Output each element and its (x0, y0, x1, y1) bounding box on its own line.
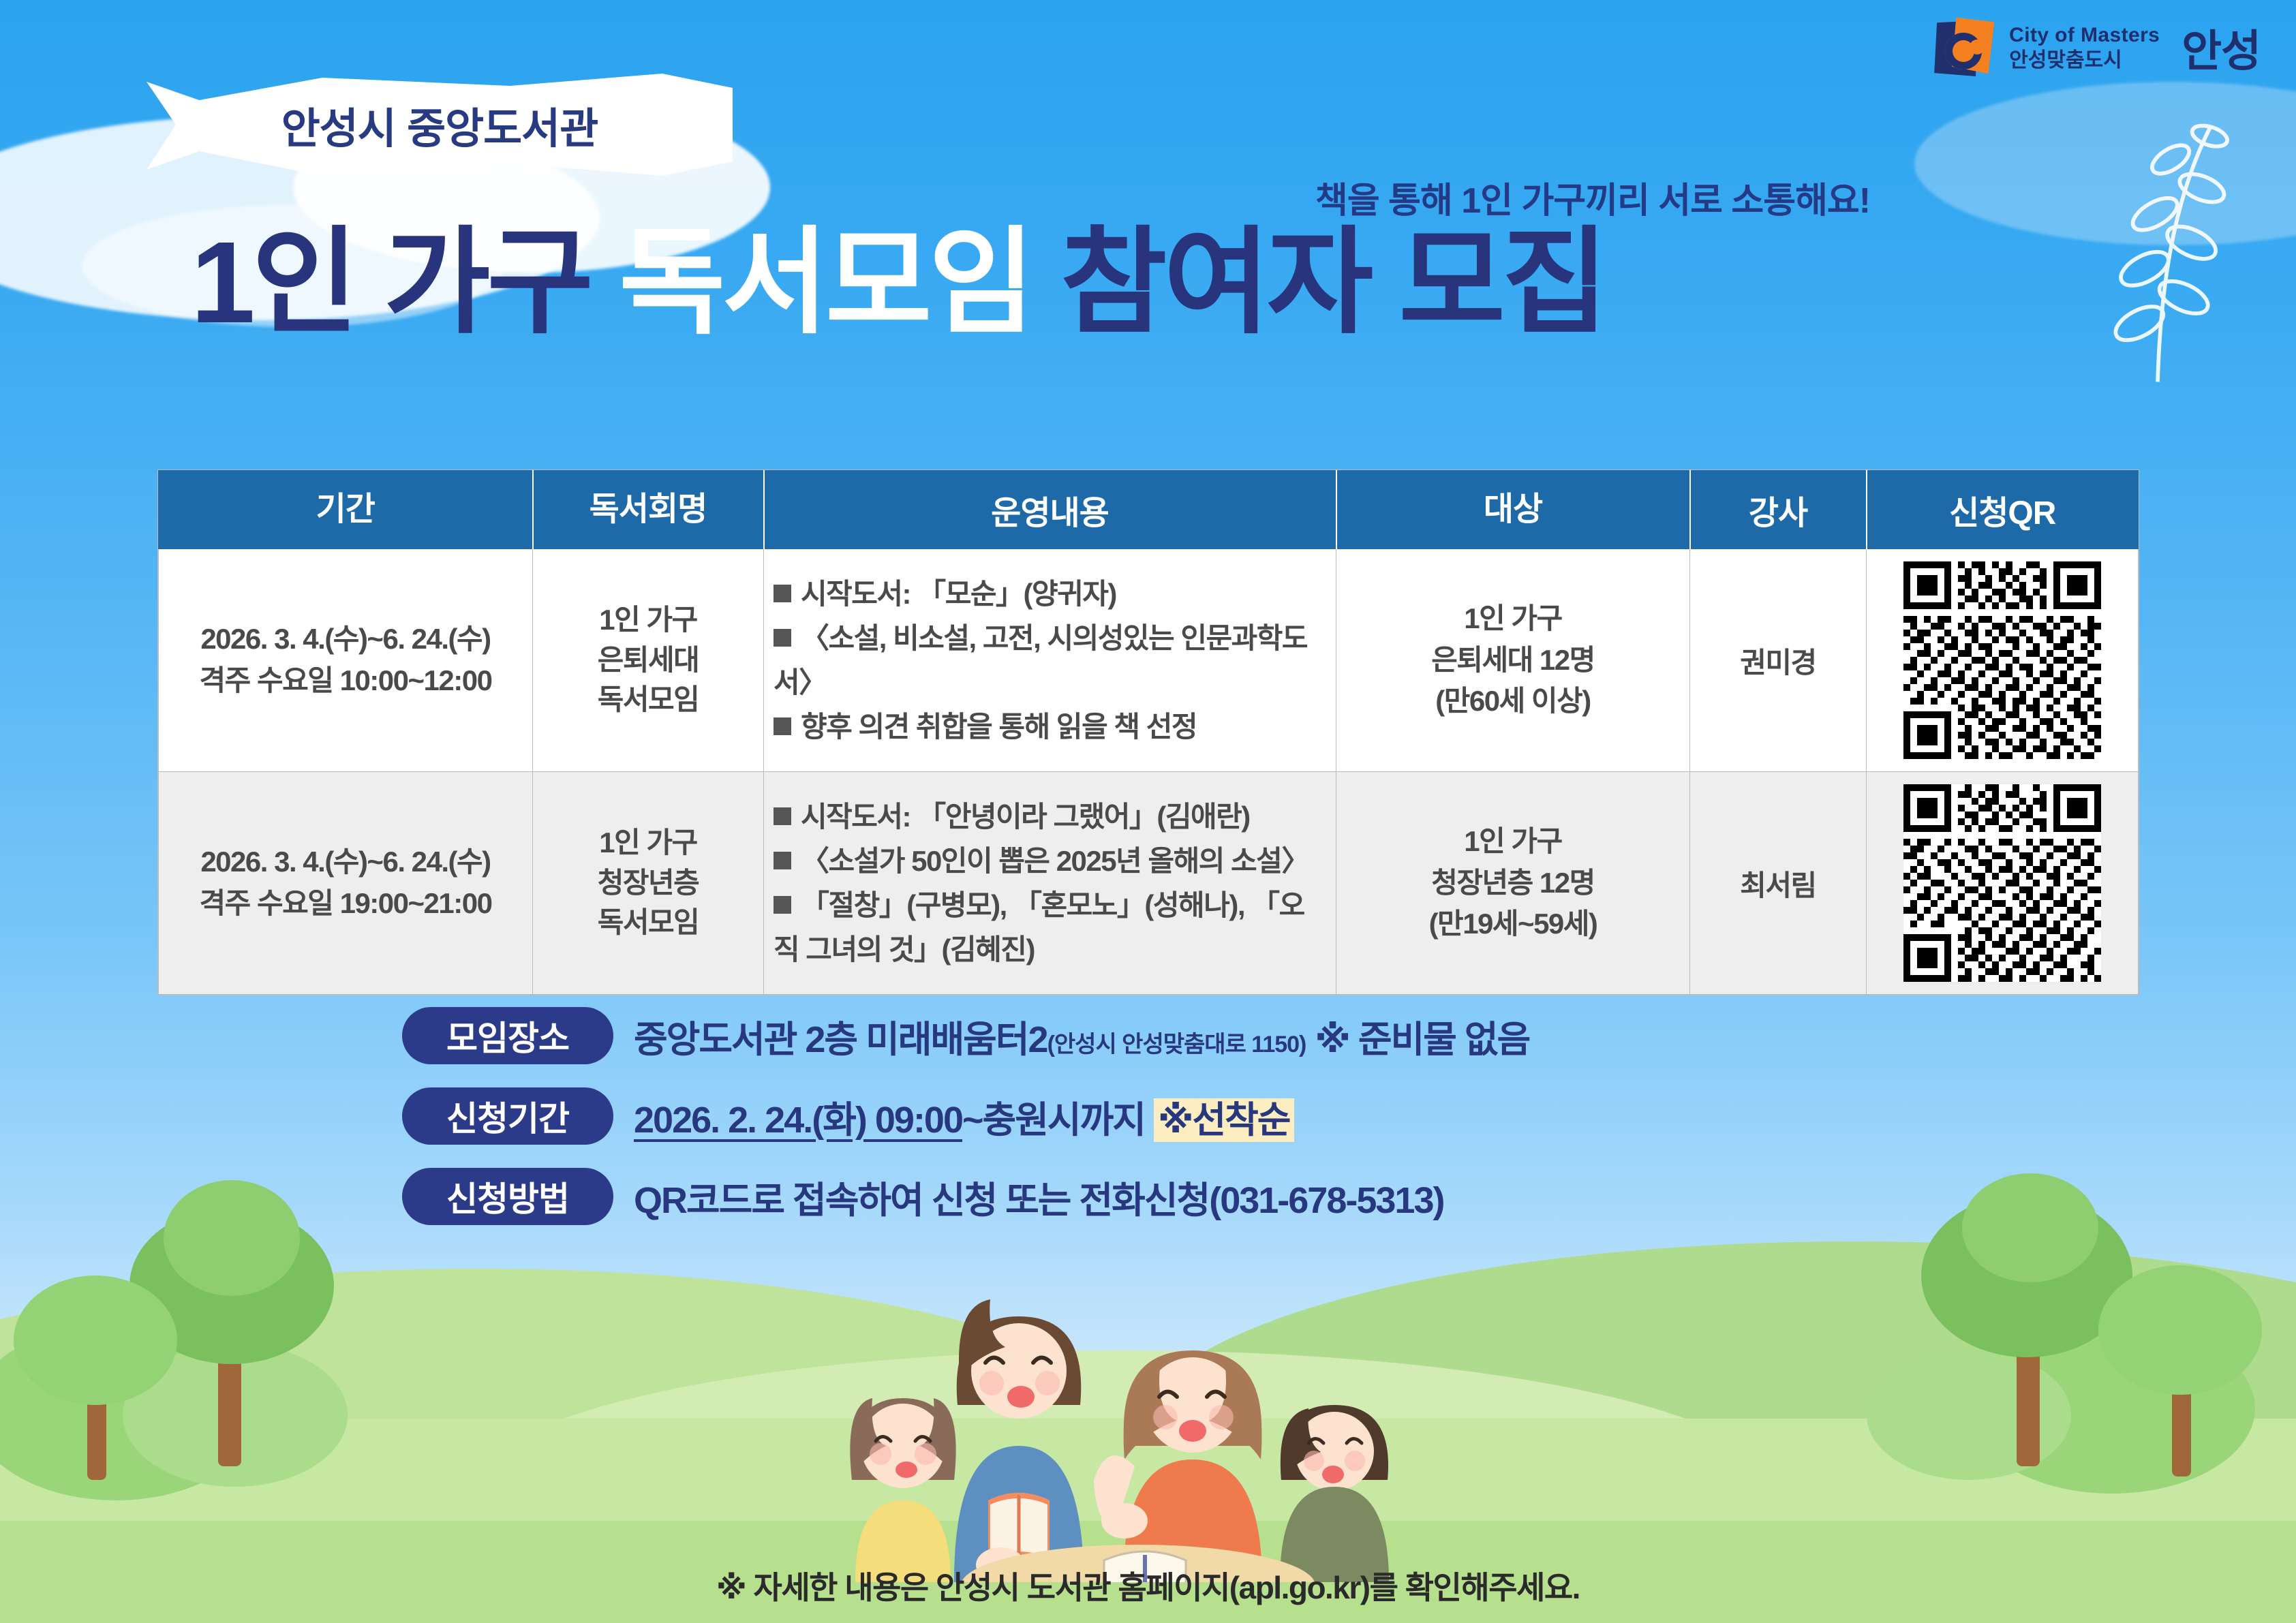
location-note: ※ 준비물 없음 (1306, 1019, 1529, 1060)
label-location: 모임장소 (402, 1007, 613, 1064)
content-line: 〈소설가 50인이 뽑은 2025년 올해의 소설〉 (774, 839, 1326, 883)
cell-content: 시작도서: 「안녕이라 그랬어」(김애란) 〈소설가 50인이 뽑은 2025년… (764, 772, 1336, 995)
content-line: 「절창」(구병모), 「혼모노」(성해나), 「오직 그녀의 것」(김혜진) (774, 883, 1326, 972)
tree-icon (2098, 1245, 2269, 1477)
period-time: 격주 수요일 19:00~21:00 (168, 883, 523, 925)
column-header-club: 독서회명 (533, 471, 764, 549)
library-name: 안성시 중앙도서관 (281, 94, 598, 155)
footer-note: ※ 자세한 내용은 안성시 도서관 홈페이지(apl.go.kr)를 확인해주세… (0, 1563, 2296, 1608)
target-line: (만60세 이상) (1346, 681, 1680, 722)
column-header-qr: 신청QR (1867, 471, 2139, 549)
cell-target: 1인 가구 청장년층 12명 (만19세~59세) (1336, 772, 1690, 995)
page-title: 1인 가구 독서모임 참여자 모집 (191, 225, 1605, 341)
poster-subtitle: 책을 통해 1인 가구끼리 서로 소통해요! (1315, 172, 1870, 223)
table-row: 2026. 3. 4.(수)~6. 24.(수) 격주 수요일 10:00~12… (159, 549, 2139, 772)
tree-icon (14, 1255, 184, 1480)
column-header-content: 운영내용 (764, 471, 1336, 549)
content-line: 〈소설, 비소설, 고전, 시의성있는 인문과학도서〉 (774, 616, 1326, 705)
club-line: 독서모임 (542, 903, 754, 943)
column-header-target: 대상 (1336, 471, 1690, 549)
cell-content: 시작도서: 「모순」(양귀자) 〈소설, 비소설, 고전, 시의성있는 인문과학… (764, 549, 1336, 772)
target-line: 은퇴세대 12명 (1346, 640, 1680, 681)
square-bullet-icon (774, 807, 791, 825)
leaf-branch-icon (2079, 102, 2236, 388)
cell-teacher: 권미경 (1690, 549, 1867, 772)
club-line: 청장년층 (542, 863, 754, 903)
square-bullet-icon (774, 896, 791, 914)
square-bullet-icon (774, 585, 791, 602)
info-row-location: 모임장소 중앙도서관 2층 미래배움터2(안성시 안성맞춤대로 1150) ※ … (402, 1007, 2038, 1064)
cell-qr[interactable] (1867, 772, 2139, 995)
brand-english-slogan: City of Masters (2009, 25, 2160, 46)
cell-target: 1인 가구 은퇴세대 12명 (만60세 이상) (1336, 549, 1690, 772)
city-logo: City of Masters 안성맞춤도시 안성 (1934, 16, 2261, 79)
table-row: 2026. 3. 4.(수)~6. 24.(수) 격주 수요일 19:00~21… (159, 772, 2139, 995)
target-line: (만19세~59세) (1346, 903, 1680, 945)
target-line: 청장년층 12명 (1346, 863, 1680, 904)
location-address: (안성시 안성맞춤대로 1150) (1047, 1032, 1306, 1057)
anseong-swirl-logo-icon (1934, 16, 1997, 79)
cell-club-name: 1인 가구 은퇴세대 독서모임 (533, 549, 764, 772)
title-segment-1: 1인 가구 (191, 218, 619, 347)
cell-qr[interactable] (1867, 549, 2139, 772)
period-dates: 2026. 3. 4.(수)~6. 24.(수) (168, 841, 523, 883)
period-time: 격주 수요일 10:00~12:00 (168, 660, 523, 702)
qr-code-2[interactable] (1903, 784, 2101, 982)
brand-korean-slogan: 안성맞춤도시 (2009, 50, 2160, 71)
column-header-period: 기간 (159, 471, 533, 549)
cell-club-name: 1인 가구 청장년층 독서모임 (533, 772, 764, 995)
people-reading-illustration (784, 1276, 1411, 1582)
qr-code-1[interactable] (1903, 561, 2101, 759)
cell-period: 2026. 3. 4.(수)~6. 24.(수) 격주 수요일 19:00~21… (159, 772, 533, 995)
cell-period: 2026. 3. 4.(수)~6. 24.(수) 격주 수요일 10:00~12… (159, 549, 533, 772)
target-line: 1인 가구 (1346, 821, 1680, 863)
club-line: 1인 가구 (542, 600, 754, 640)
title-segment-3: 참여자 모집 (1032, 218, 1605, 347)
period-dates: 2026. 3. 4.(수)~6. 24.(수) (168, 619, 523, 660)
cell-teacher: 최서림 (1690, 772, 1867, 995)
square-bullet-icon (774, 629, 791, 647)
title-segment-2: 독서모임 (619, 218, 1032, 347)
content-line: 향후 의견 취합을 통해 읽을 책 선정 (774, 705, 1326, 749)
column-header-teacher: 강사 (1690, 471, 1867, 549)
poster-canvas: City of Masters 안성맞춤도시 안성 안성시 중앙도서관 책을 통… (0, 0, 2296, 1623)
content-line: 시작도서: 「안녕이라 그랬어」(김애란) (774, 794, 1326, 839)
content-line: 시작도서: 「모순」(양귀자) (774, 572, 1326, 616)
club-line: 은퇴세대 (542, 640, 754, 681)
club-line: 독서모임 (542, 680, 754, 720)
location-text: 중앙도서관 2층 미래배움터2(안성시 안성맞춤대로 1150) ※ 준비물 없… (634, 1009, 1529, 1063)
table-header-row: 기간 독서회명 운영내용 대상 강사 신청QR (159, 471, 2139, 549)
target-line: 1인 가구 (1346, 598, 1680, 640)
brand-city-name: 안성 (2182, 16, 2261, 79)
square-bullet-icon (774, 717, 791, 735)
club-line: 1인 가구 (542, 823, 754, 863)
program-table: 기간 독서회명 운영내용 대상 강사 신청QR 2026. 3. 4.(수)~6… (158, 470, 2139, 995)
square-bullet-icon (774, 852, 791, 869)
